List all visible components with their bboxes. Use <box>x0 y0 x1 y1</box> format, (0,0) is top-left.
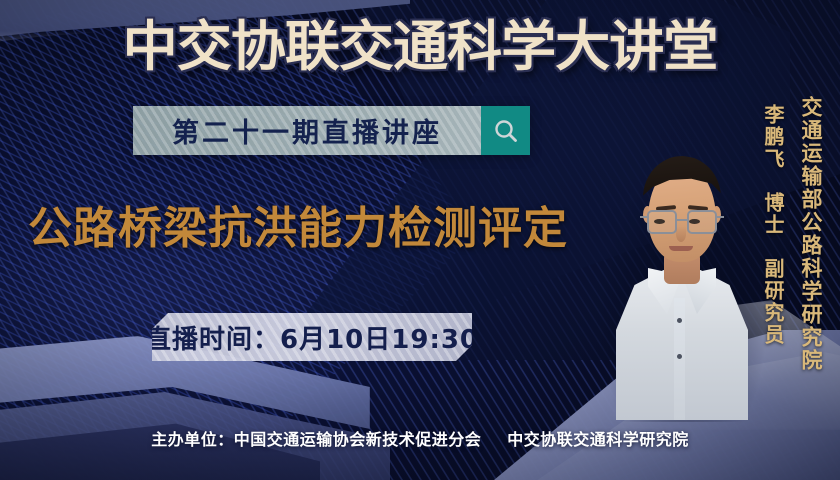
glasses-lens-right <box>687 210 717 234</box>
episode-label: 第二十一期直播讲座 <box>172 111 442 150</box>
portrait-shirt-placket <box>674 298 685 420</box>
page-title: 中交协联交通科学大讲堂 <box>0 18 840 76</box>
speaker-organization: 交通运输部公路科学研究院 <box>796 96 826 372</box>
speaker-portrait <box>612 122 752 412</box>
glasses-lens-left <box>647 210 677 234</box>
portrait-nose <box>676 226 686 242</box>
glasses-temple-left <box>640 216 647 218</box>
episode-banner: 第二十一期直播讲座 <box>133 106 530 155</box>
portrait-shirt-button <box>677 354 682 359</box>
organizer-primary: 主办单位：中国交通运输协会新技术促进分会 <box>151 430 481 449</box>
portrait-shirt-button <box>677 318 682 323</box>
live-lecture-poster: 中交协联交通科学大讲堂 第二十一期直播讲座 公路桥梁抗洪能力检测评定 直播时间：… <box>0 0 840 480</box>
glasses-temple-right <box>717 216 724 218</box>
search-icon[interactable] <box>481 106 530 155</box>
speaker-name-title: 李鹏飞 博士 副研究员 <box>759 104 788 346</box>
glasses-bridge <box>677 219 687 221</box>
episode-banner-body: 第二十一期直播讲座 <box>133 106 481 155</box>
organizer-footer: 主办单位：中国交通运输协会新技术促进分会中交协联交通科学研究院 <box>0 426 840 450</box>
portrait-mouth <box>669 246 693 251</box>
organizer-secondary: 中交协联交通科学研究院 <box>507 430 689 449</box>
lecture-headline: 公路桥梁抗洪能力检测评定 <box>28 203 568 255</box>
broadcast-time-banner: 直播时间：6月10日19:30 <box>152 313 472 361</box>
broadcast-time-label: 直播时间：6月10日19:30 <box>152 319 472 356</box>
